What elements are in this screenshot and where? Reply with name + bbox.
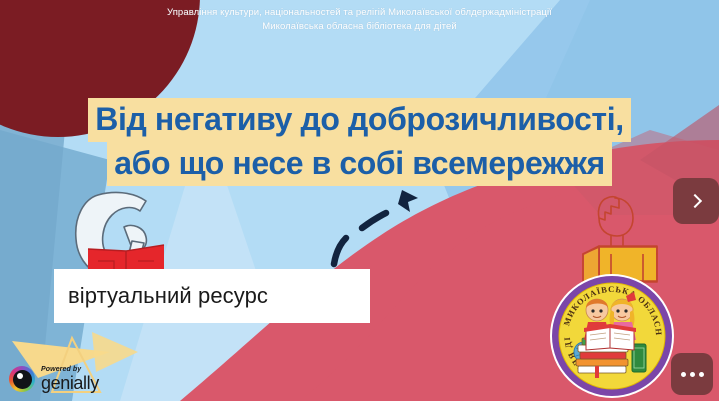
- genially-logo-icon: [9, 366, 35, 392]
- title-line-2: або що несе в собі всемережжя: [107, 142, 612, 186]
- header-line-2: Миколаївська обласна бібліотека для діте…: [0, 20, 719, 34]
- subtitle-text: віртуальний ресурс: [68, 283, 268, 309]
- dot-icon: [681, 372, 686, 377]
- more-options-button[interactable]: [671, 353, 713, 395]
- next-slide-button[interactable]: [673, 178, 719, 224]
- institution-header: Управління культури, національностей та …: [0, 6, 719, 34]
- header-line-1: Управління культури, національностей та …: [0, 6, 719, 20]
- library-seal-logo: МИКОЛАЇВСЬКА ОБЛАСНА БІБЛІОТЕКА ДЛЯ ДІТЕ…: [548, 272, 676, 400]
- title-line-1: Від негативу до доброзичливості,: [88, 98, 630, 142]
- dot-icon: [699, 372, 704, 377]
- dashed-arrow-icon: [322, 182, 432, 274]
- dot-icon: [690, 372, 695, 377]
- slide-title: Від негативу до доброзичливості, або що …: [0, 98, 719, 186]
- genially-watermark[interactable]: Powered by genially: [9, 366, 99, 392]
- slide-canvas: Управління культури, національностей та …: [0, 0, 719, 401]
- subtitle-box: віртуальний ресурс: [54, 269, 370, 323]
- chevron-right-icon: [688, 194, 702, 208]
- powered-by-label: Powered by: [41, 366, 99, 373]
- genially-brand-label: genially: [41, 374, 99, 392]
